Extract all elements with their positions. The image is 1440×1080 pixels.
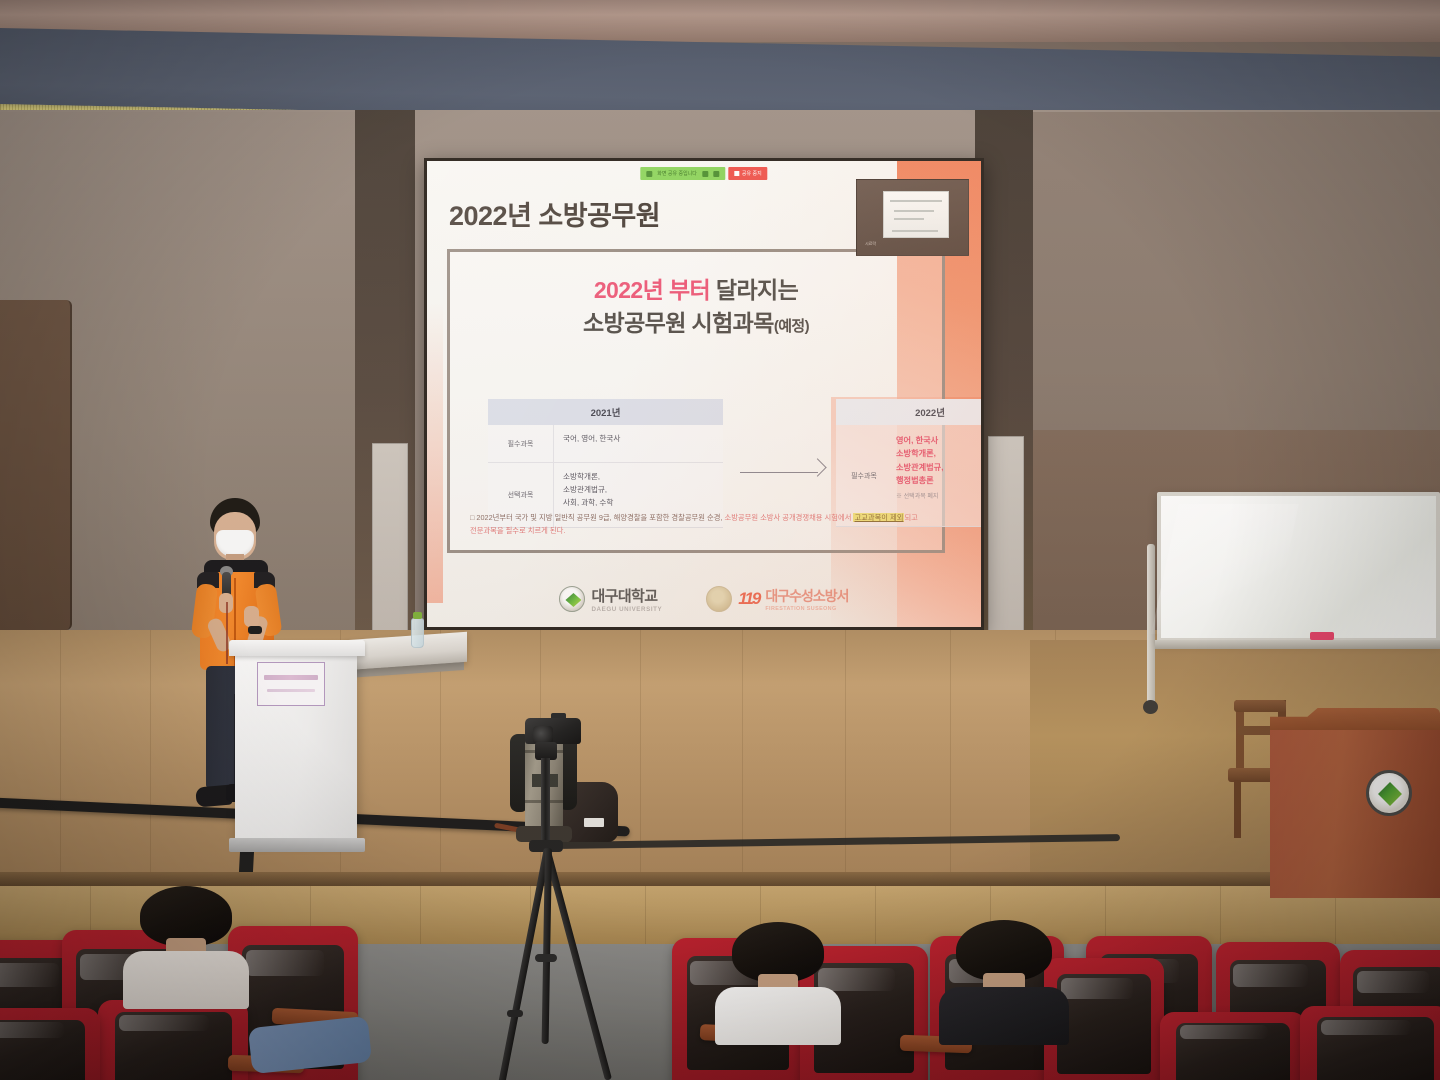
audience-hair <box>956 920 1052 981</box>
whiteboard-glare <box>1151 504 1299 634</box>
microphone-cord <box>226 602 228 664</box>
mobile-whiteboard <box>1157 492 1440 664</box>
headline-highlight: 2022년 부터 <box>594 277 710 303</box>
headline-rest: 달라지는 <box>716 277 798 303</box>
university-emblem-icon <box>1366 770 1412 816</box>
subject-line-1: 영어, 한국사 <box>896 434 981 447</box>
water-bottle <box>411 618 424 648</box>
tripod-leg <box>543 847 612 1080</box>
table-row: 필수과목 국어, 영어, 한국사 <box>488 425 723 463</box>
audience-shirt <box>939 987 1070 1046</box>
stop-sharing-button[interactable]: 공유 중지 <box>728 167 768 180</box>
seat[interactable] <box>1300 1006 1440 1080</box>
fire-station-name-en: FIRESTATION SUSEONG <box>765 606 848 612</box>
slide-logo-row: 대구대학교 DAEGU UNIVERSITY 119 대구수성소방서 FIRES… <box>427 585 981 613</box>
podium-top-surface <box>229 640 365 656</box>
podium-sign <box>257 662 325 706</box>
pause-icon[interactable] <box>702 171 708 177</box>
headline-line2: 소방공무원 시험과목 <box>583 310 774 336</box>
slide-thumbnail-photo: 시료락 <box>856 179 969 256</box>
stop-sharing-label: 공유 중지 <box>742 170 762 177</box>
elective-abolished-note: ※ 선택과목 폐지 <box>896 493 981 503</box>
wall-light-panel-left <box>372 443 408 633</box>
sharing-status-pill: 화면 공유 중입니다 <box>640 167 725 180</box>
seat[interactable] <box>0 1008 100 1080</box>
footnote-part1: □ 2022년부터 국가 및 지방 일반직 공무원 9급, 해양경찰을 포함한 … <box>470 513 724 522</box>
slide-accent-band-left <box>427 303 443 603</box>
transition-arrow-icon <box>740 461 824 475</box>
podium-base <box>229 838 365 852</box>
wooden-lectern <box>1270 708 1440 898</box>
white-podium <box>229 640 365 852</box>
footnote-highlight: 고교과목이 제외 <box>853 513 904 522</box>
row-label-required: 필수과목 <box>488 425 554 462</box>
university-logo: 대구대학교 DAEGU UNIVERSITY <box>559 585 662 613</box>
emergency-number-119: 119 <box>738 589 759 609</box>
sharing-status-label: 화면 공유 중입니다 <box>657 170 697 177</box>
table-column-2021: 2021년 필수과목 국어, 영어, 한국사 선택과목 소방학개론, 소방관계법… <box>488 399 723 528</box>
thumbnail-caption: 시료락 <box>865 241 876 247</box>
subject-line-4: 행정법총론 <box>896 474 981 487</box>
screen-share-toolbar[interactable]: 화면 공유 중입니다 공유 중지 <box>640 167 767 180</box>
university-name-en: DAEGU UNIVERSITY <box>591 606 662 613</box>
podium-sign-line-2 <box>267 689 315 692</box>
row-label-required-2022: 필수과목 <box>836 425 892 526</box>
whiteboard-surface[interactable] <box>1157 492 1440 642</box>
seat[interactable] <box>98 1000 248 1080</box>
column-header-2022: 2022년 <box>836 399 981 425</box>
lectern-top <box>1270 708 1440 730</box>
fire-department-seal-icon <box>706 586 732 612</box>
emblem-ring <box>1368 772 1410 814</box>
university-seal-icon <box>559 586 585 612</box>
projection-screen: 화면 공유 중입니다 공유 중지 2022년 소방공무원 <box>424 158 984 630</box>
exam-subject-comparison-table: 2021년 필수과목 국어, 영어, 한국사 선택과목 소방학개론, 소방관계법… <box>488 399 912 527</box>
thumbnail-inner-screen <box>883 191 949 238</box>
audience-member-1 <box>140 886 232 982</box>
slide-title: 2022년 소방공무원 <box>449 194 660 233</box>
footnote-part2: 소방공무원 소방사 공개경쟁채용 시험에서 <box>724 513 853 522</box>
seat[interactable] <box>1160 1012 1306 1080</box>
whiteboard-marker-tray <box>1155 640 1440 649</box>
tripod-lock-knob[interactable] <box>507 1010 523 1017</box>
bottle-cap-icon <box>413 612 422 619</box>
slide-footnote: □ 2022년부터 국가 및 지방 일반직 공무원 9급, 해양경찰을 포함한 … <box>470 512 926 538</box>
audience-member-2 <box>732 922 824 1018</box>
fire-station-name-kr: 대구수성소방서 <box>765 586 848 606</box>
whiteboard-caster-wheel <box>1143 700 1158 714</box>
university-name-kr: 대구대학교 <box>591 585 662 606</box>
share-icon <box>646 171 652 177</box>
row-value-required: 국어, 영어, 한국사 <box>554 425 723 462</box>
slide-content-box: 2022년 부터 달라지는 소방공무원 시험과목(예정) 2021년 필수과목 <box>447 249 945 553</box>
subject-line-2: 소방학개론, <box>896 447 981 460</box>
row-values-2022: 영어, 한국사 소방학개론, 소방관계법규, 행정법총론 ※ 선택과목 폐지 <box>892 425 981 526</box>
camera-tripod <box>455 718 635 1080</box>
tripod-center-column <box>541 758 550 848</box>
presenter-hand-right <box>244 606 259 627</box>
subject-line-3: 소방관계법규, <box>896 461 981 474</box>
headline-line2-small: (예정) <box>774 318 809 335</box>
podium-sign-line-1 <box>264 675 318 680</box>
audience-hair <box>140 886 232 946</box>
stage-side-door[interactable] <box>0 300 72 630</box>
audience-hair <box>732 922 824 982</box>
lectern-body <box>1270 726 1440 898</box>
audience-shirt <box>123 951 248 1009</box>
fire-station-logo: 119 대구수성소방서 FIRESTATION SUSEONG <box>706 586 848 612</box>
chair-leg-left <box>1234 780 1241 838</box>
wristwatch-icon <box>248 626 262 634</box>
stop-square-icon <box>734 171 739 176</box>
wall-light-panel-right <box>988 436 1024 632</box>
gear-icon[interactable] <box>713 171 719 177</box>
red-marker-icon[interactable] <box>1310 632 1334 640</box>
tripod-lock-knob[interactable] <box>535 954 557 962</box>
presentation-slide: 화면 공유 중입니다 공유 중지 2022년 소방공무원 <box>427 161 981 627</box>
audience-member-3 <box>956 920 1052 1018</box>
slide-headline: 2022년 부터 달라지는 소방공무원 시험과목(예정) <box>450 274 942 339</box>
audience-shirt <box>715 987 840 1045</box>
table-column-2022: 2022년 필수과목 영어, 한국사 소방학개론, 소방관계법규, 행정법총론 … <box>836 399 981 527</box>
lecture-hall-scene: 화면 공유 중입니다 공유 중지 2022년 소방공무원 <box>0 0 1440 1080</box>
column-header-2021: 2021년 <box>488 399 723 425</box>
